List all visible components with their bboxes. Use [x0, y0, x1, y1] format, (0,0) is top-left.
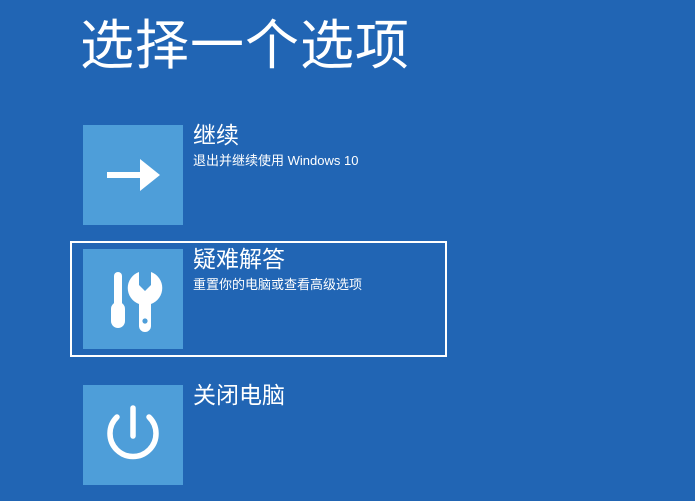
- choose-an-option-screen: 选择一个选项 继续 退出并继续使用 Windows 10 疑难: [0, 0, 695, 501]
- option-continue[interactable]: 继续 退出并继续使用 Windows 10: [83, 125, 447, 225]
- option-turn-off-pc[interactable]: 关闭电脑: [83, 385, 447, 485]
- option-continue-tile[interactable]: [83, 125, 183, 225]
- power-icon: [83, 385, 183, 485]
- option-turn-off-pc-tile[interactable]: [83, 385, 183, 485]
- page-title: 选择一个选项: [80, 8, 410, 84]
- option-troubleshoot-text: 疑难解答 重置你的电脑或查看高级选项: [193, 243, 443, 294]
- option-continue-subtitle: 退出并继续使用 Windows 10: [193, 151, 443, 170]
- option-continue-title: 继续: [193, 119, 443, 151]
- option-troubleshoot-title: 疑难解答: [193, 243, 443, 275]
- option-turn-off-pc-text: 关闭电脑: [193, 379, 443, 411]
- option-turn-off-pc-title: 关闭电脑: [193, 379, 443, 411]
- option-troubleshoot-tile[interactable]: [83, 249, 183, 349]
- option-troubleshoot[interactable]: 疑难解答 重置你的电脑或查看高级选项: [70, 241, 447, 357]
- arrow-right-icon: [83, 125, 183, 225]
- option-troubleshoot-subtitle: 重置你的电脑或查看高级选项: [193, 275, 443, 294]
- screwdriver-wrench-icon: [83, 249, 183, 349]
- option-continue-text: 继续 退出并继续使用 Windows 10: [193, 119, 443, 170]
